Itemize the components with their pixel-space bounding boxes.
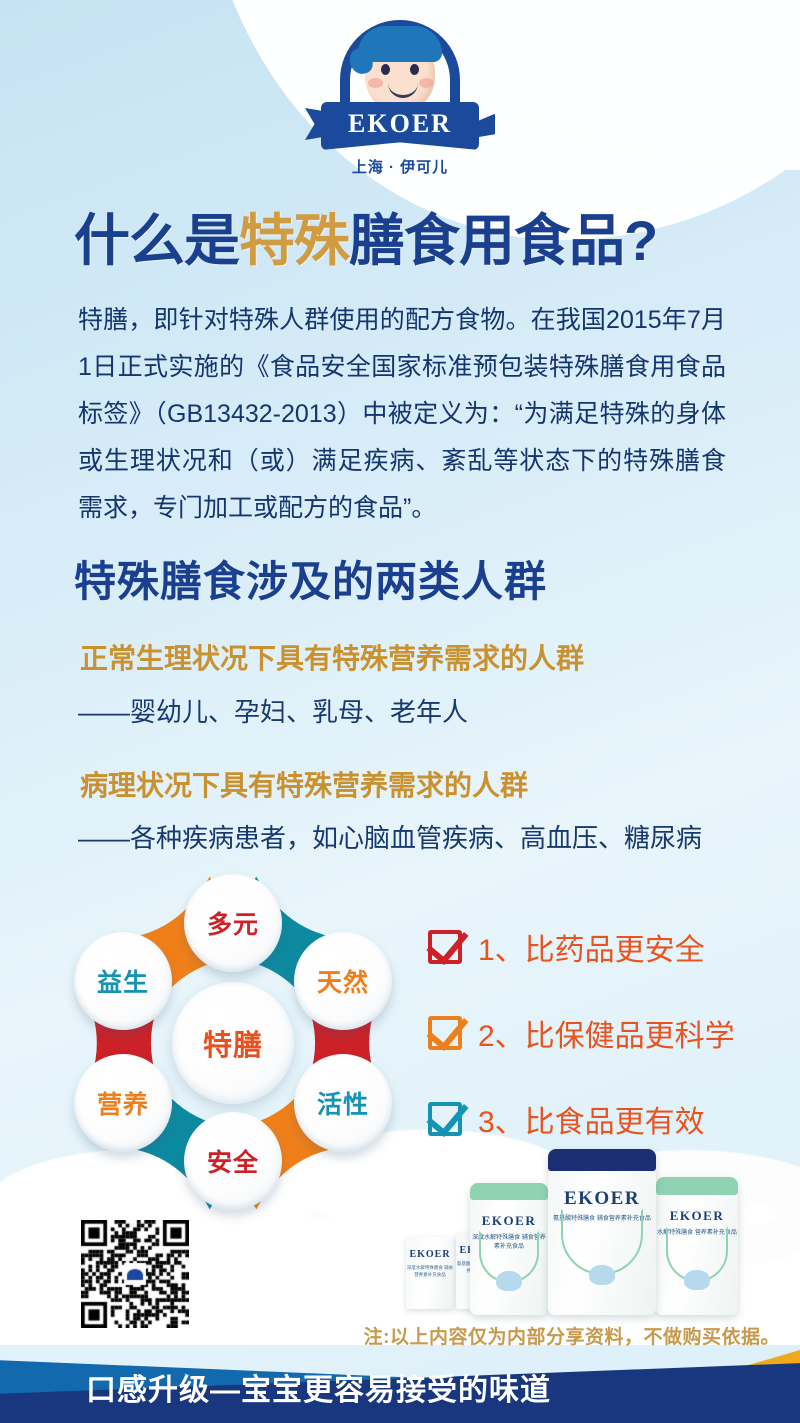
disclaimer-note: 注:以上内容仅为内部分享资料，不做购买依据。 (364, 1322, 780, 1349)
section-heading: 特殊膳食涉及的两类人群 (74, 548, 547, 609)
diagram-node-label: 安全 (207, 1143, 259, 1179)
page-title: 什么是特殊膳食用食品? (74, 196, 657, 277)
group-detail-1: ——婴幼儿、孕妇、乳母、老年人 (78, 692, 468, 729)
logo-ribbon: EKOER (307, 102, 493, 154)
diagram-node-top-right: 天然 (294, 932, 392, 1030)
diagram-node-bottom-right: 活性 (294, 1054, 392, 1152)
diagram-node-label: 多元 (207, 905, 259, 941)
diagram-node-bottom-left: 营养 (74, 1054, 172, 1152)
product-can: EKOER 深度水解特殊膳食 辅食营养素补充食品 (470, 1183, 548, 1315)
group-title-2: 病理状况下具有特殊营养需求的人群 (80, 764, 528, 804)
brand-logo: EKOER 上海 · 伊可儿 (305, 8, 495, 184)
logo-subtitle: 上海 · 伊可儿 (352, 156, 448, 177)
checkbox-checked-icon (428, 1016, 462, 1050)
poster-canvas: EKOER 上海 · 伊可儿 什么是特殊膳食用食品? 特膳，即针对特殊人群使用的… (0, 0, 800, 1423)
diagram-node-top: 多元 (184, 874, 282, 972)
title-part1: 什么是 (74, 209, 239, 272)
product-description: 深度水解特殊膳食 辅食营养素补充食品 (406, 1264, 454, 1278)
checklist-label: 3、比食品更有效 (478, 1097, 705, 1141)
product-brand: EKOER (482, 1213, 536, 1229)
qr-code[interactable] (76, 1215, 194, 1333)
diagram-node-label: 天然 (317, 963, 369, 999)
definition-paragraph: 特膳，即针对特殊人群使用的配方食物。在我国2015年7月1日正式实施的《食品安全… (78, 297, 726, 532)
qr-code-image (81, 1220, 189, 1328)
diagram-center-node: 特膳 (172, 982, 294, 1104)
checkbox-checked-icon (428, 930, 462, 964)
product-can: EKOER 水解特殊膳食 营养素补充食品 (656, 1177, 738, 1315)
diagram-node-bottom: 安全 (184, 1112, 282, 1210)
group-title-1: 正常生理状况下具有特殊营养需求的人群 (80, 637, 584, 677)
group-detail-2: ——各种疾病患者，如心脑血管疾病、高血压、糖尿病 (78, 818, 702, 855)
product-brand: EKOER (564, 1188, 640, 1210)
diagram-node-label: 营养 (97, 1085, 149, 1121)
product-box: EKOER 深度水解特殊膳食 辅食营养素补充食品 (406, 1237, 454, 1309)
benefits-hexagon-diagram: 特膳 多元 天然 活性 安全 营养 益生 (58, 868, 408, 1218)
checklist-label: 2、比保健品更科学 (478, 1011, 735, 1055)
checklist-item: 3、比食品更有效 (428, 1097, 735, 1141)
diagram-center-label: 特膳 (203, 1022, 263, 1064)
logo-wordmark: EKOER (348, 109, 452, 139)
advantages-checklist: 1、比药品更安全 2、比保健品更科学 3、比食品更有效 (428, 925, 735, 1183)
footer-banner: 口感升级—宝宝更容易接受的味道 (0, 1350, 800, 1423)
title-highlight: 特殊 (239, 209, 349, 272)
diagram-node-label: 活性 (317, 1085, 369, 1121)
checklist-item: 1、比药品更安全 (428, 925, 735, 969)
diagram-node-label: 益生 (97, 963, 149, 999)
diagram-node-top-left: 益生 (74, 932, 172, 1030)
checkbox-checked-icon (428, 1102, 462, 1136)
checklist-label: 1、比药品更安全 (478, 925, 705, 969)
product-brand: EKOER (409, 1249, 450, 1260)
checklist-item: 2、比保健品更科学 (428, 1011, 735, 1055)
title-part2: 膳食用食品? (349, 209, 657, 272)
footer-slogan: 口感升级—宝宝更容易接受的味道 (86, 1365, 551, 1409)
product-brand: EKOER (670, 1208, 724, 1224)
